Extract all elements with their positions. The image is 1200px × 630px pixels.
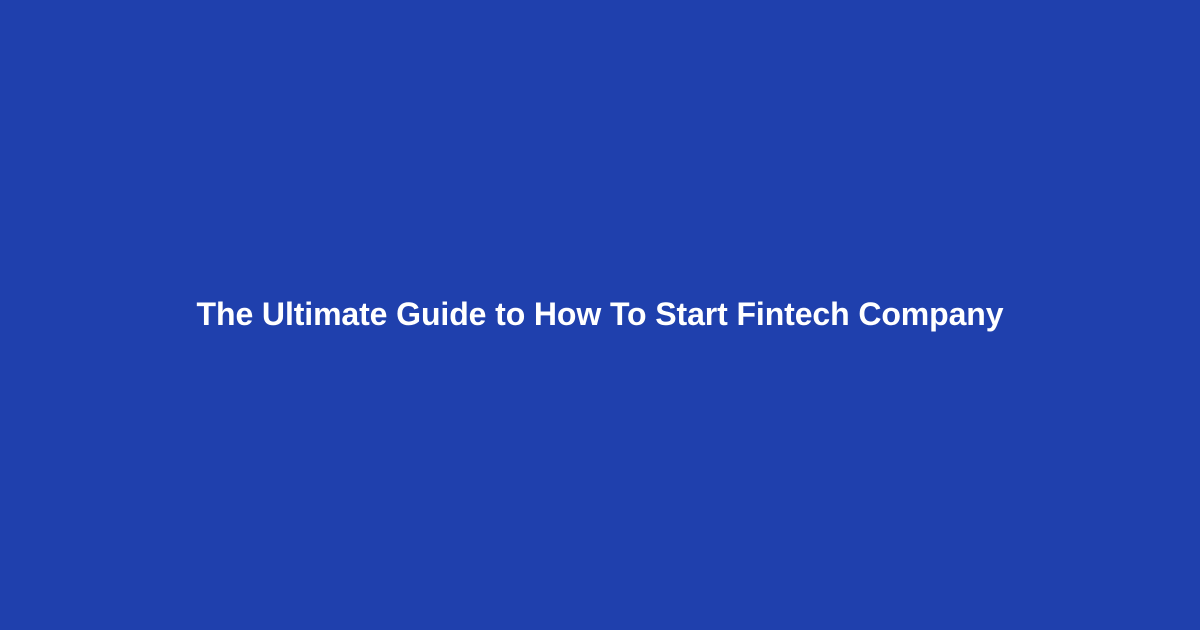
card-content-wrapper: The Ultimate Guide to How To Start Finte…	[0, 294, 1200, 336]
social-share-card: The Ultimate Guide to How To Start Finte…	[0, 0, 1200, 630]
page-title: The Ultimate Guide to How To Start Finte…	[197, 294, 1004, 336]
